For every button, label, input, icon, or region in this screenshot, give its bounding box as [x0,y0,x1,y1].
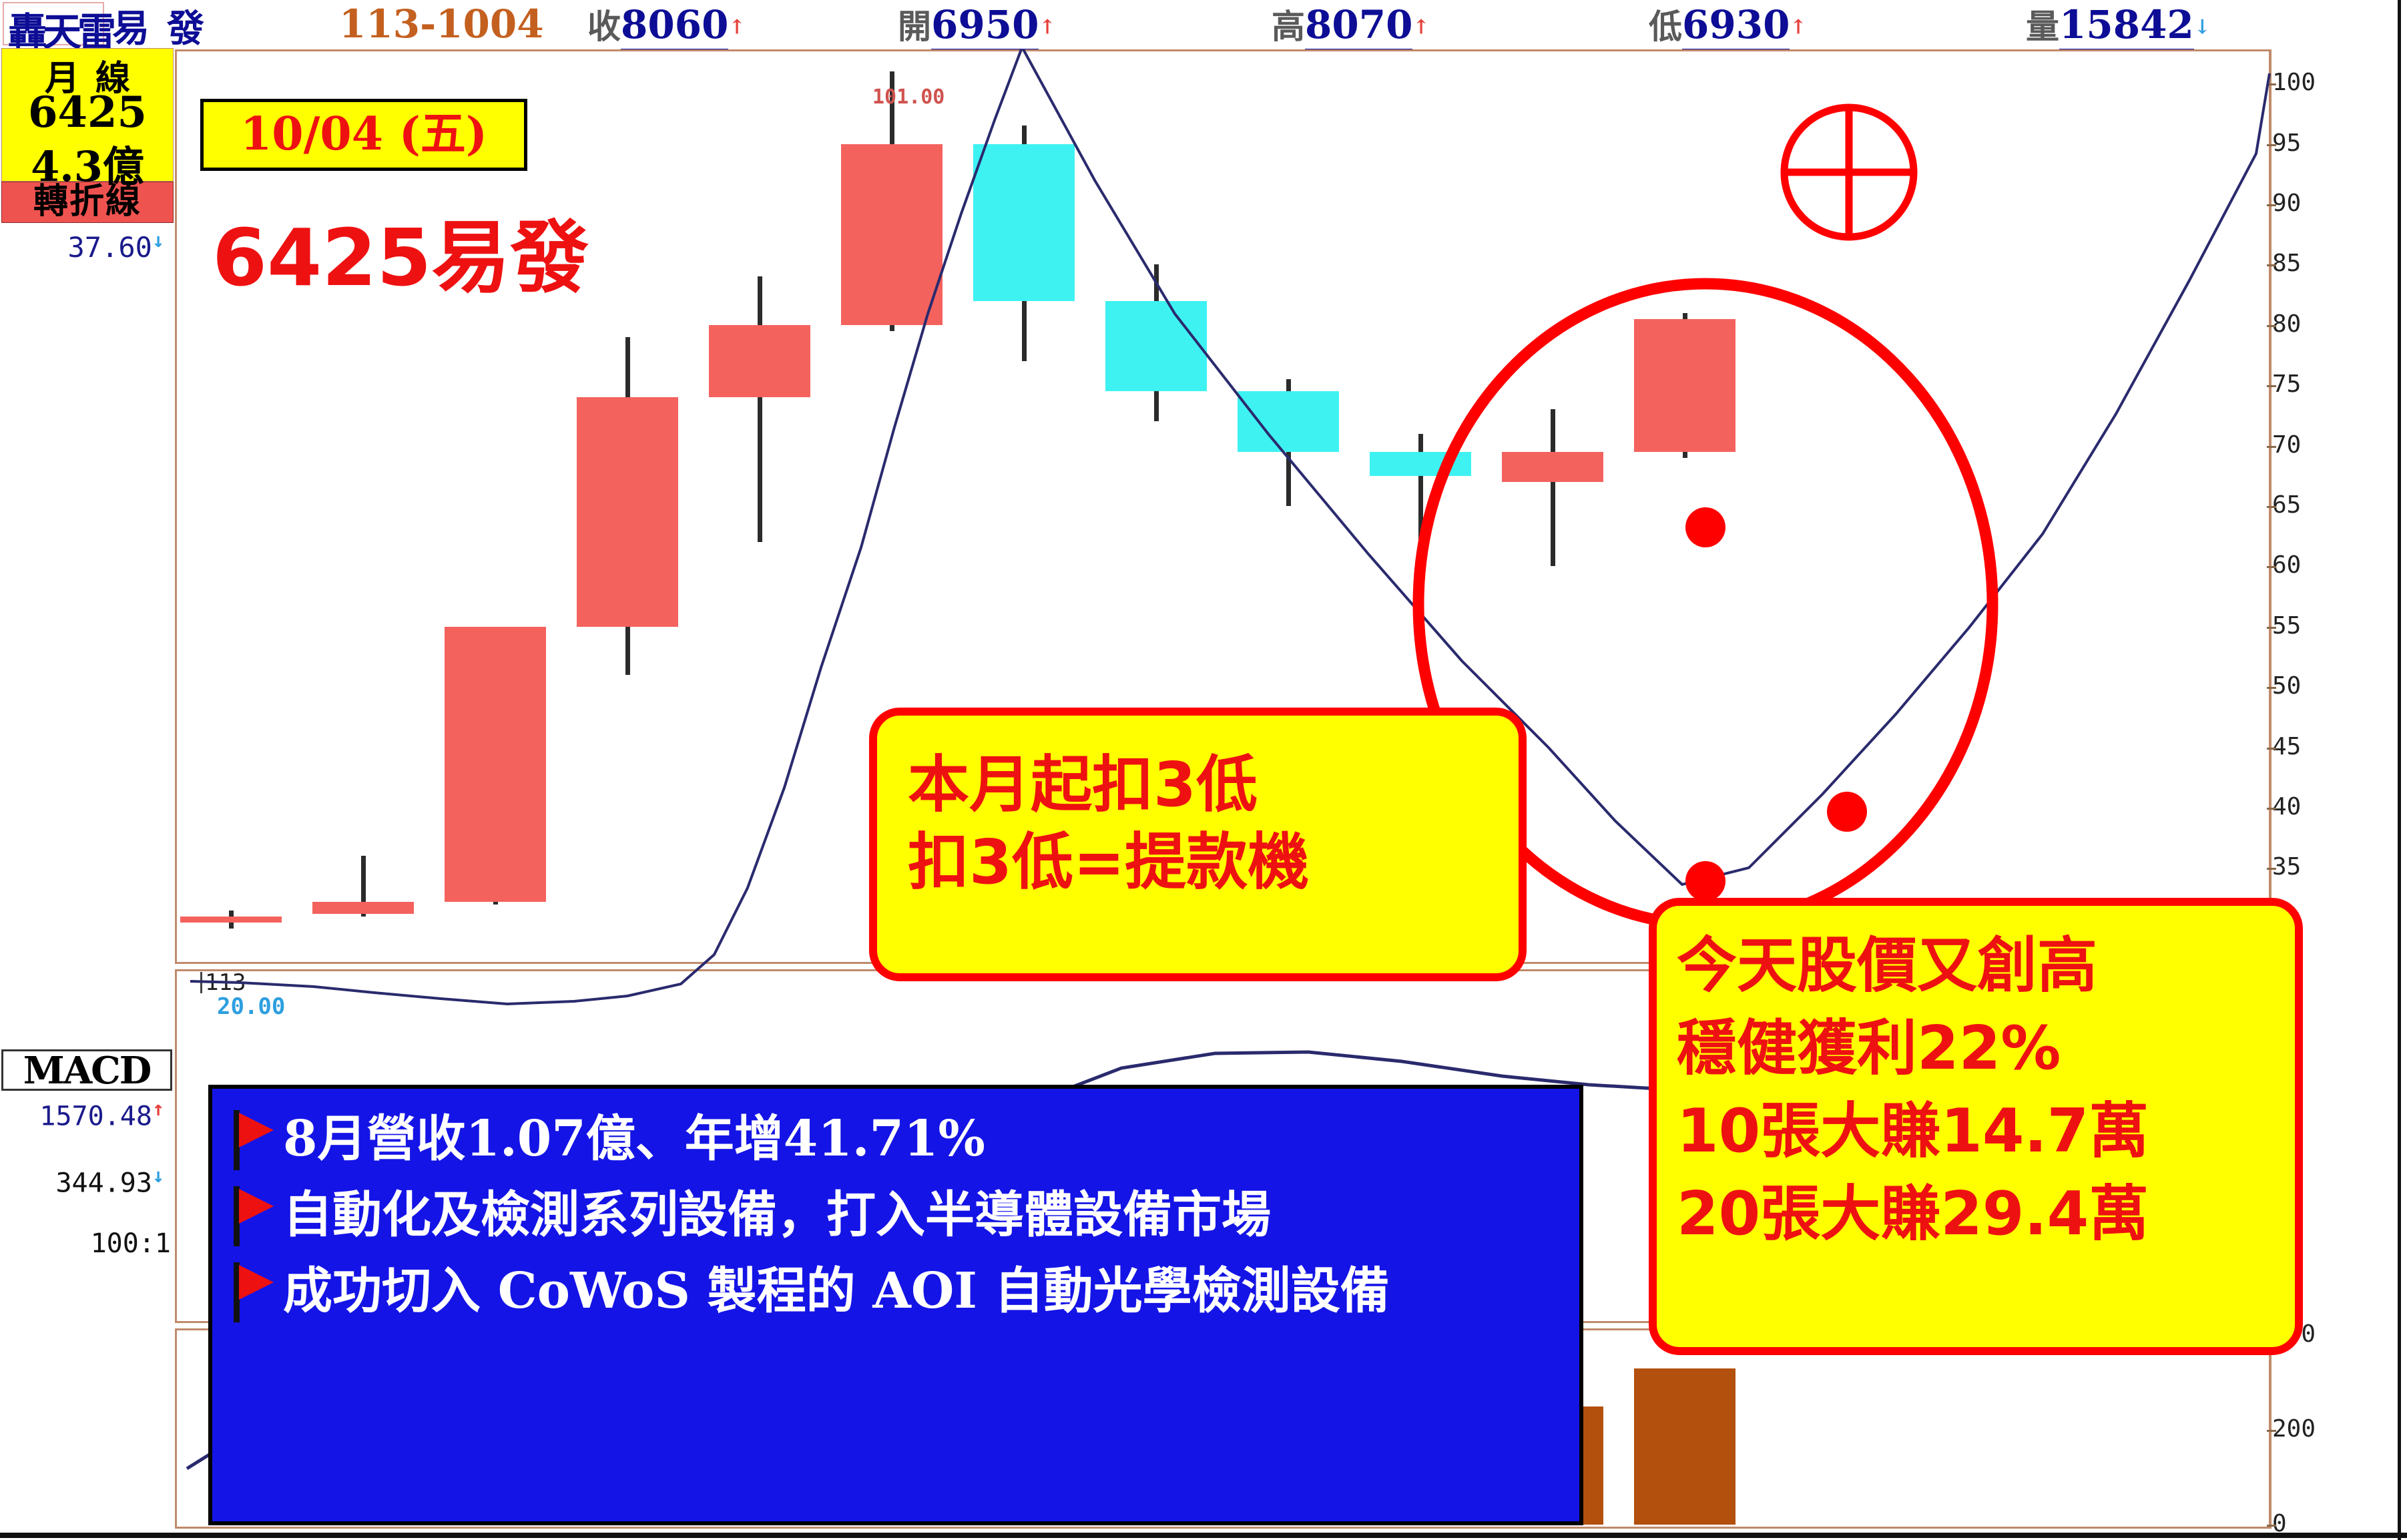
high-arrow-icon: ↑ [1412,16,1429,39]
candlestick-10 [1370,434,1471,603]
candle-body-up [1502,452,1603,482]
macd-value-mid: 344.93 [55,1168,152,1199]
price-axis-tick-95: 95 [2272,130,2301,157]
price-axis-tickmark [2267,83,2276,85]
candlestick-11 [1502,409,1603,566]
low-price-marker: 20.00 [217,993,285,1020]
price-axis-tickmark [2267,808,2276,810]
low-arrow-icon: ↑ [1790,16,1806,39]
close-arrow-icon: ↑ [728,16,745,39]
red-flag-icon [230,1110,276,1170]
price-axis-tickmark [2267,264,2276,266]
price-axis-tickmark [2267,687,2276,689]
macd-mid-arrow-icon: ↓ [152,1164,164,1188]
price-axis-tick-60: 60 [2272,551,2301,579]
low-label: 低 [1649,7,1682,46]
candle-body-up [445,627,546,902]
callout-right: 今天股價又創高 穩健獲利22% 10張大賺14.7萬 20張大賺29.4萬 [1649,898,2303,1355]
price-axis-tickmark [2267,204,2276,206]
macd-value-mid-row: 344.93↓ [1,1158,174,1202]
volume-axis-tickmark [2267,1430,2276,1432]
candlestick-8 [1105,264,1207,421]
macd-scale: 100:1 [1,1225,174,1262]
candlestick-9 [1238,379,1339,506]
price-axis-tickmark [2267,566,2276,568]
price-axis-tick-80: 80 [2272,310,2301,338]
macd-value-top-row: 1570.48↑ [1,1091,174,1135]
ticker-field-high: 高8070↑ [1272,0,1430,48]
price-axis-tick-40: 40 [2272,793,2301,820]
ticker-field-close: 收8060↑ [587,0,746,48]
close-value: 8060 [621,2,728,53]
date-badge: 10/04 (五) [200,99,527,171]
price-axis-tick-45: 45 [2272,733,2301,760]
close-label: 收 [587,7,621,46]
candlestick-1 [180,911,282,929]
stock-code: 6425 [2,87,173,138]
candlestick-3 [445,627,546,905]
macd-value-top: 1570.48 [39,1101,152,1131]
candlestick-4 [577,337,678,675]
open-arrow-icon: ↑ [1039,16,1055,39]
high-value: 8070 [1305,2,1412,53]
candlestick-7 [973,125,1075,361]
candlestick-12 [1634,313,1735,458]
price-axis-tickmark [2267,144,2276,146]
volume-bar-12 [1634,1368,1735,1525]
x-axis-label: 113 [200,969,246,996]
open-label: 開 [898,7,931,46]
news-line-2: 自動化及檢測系列設備，打入半導體設備市場 [283,1186,1271,1244]
turning-line-value-row: 37.60↓ [1,223,174,260]
price-axis-tick-70: 70 [2272,431,2301,459]
macd-title: MACD [1,1049,172,1091]
volume-value: 15842 [2059,2,2194,53]
callout-middle: 本月起扣3低 扣3低=提款機 [869,708,1527,981]
ticker-bar: 轟天雷 易發 113-1004 收8060↑ 開6950↑ 高8070↑ 低69… [0,0,2407,52]
candlestick-2 [312,856,414,916]
price-axis-tick-100: 100 [2272,69,2316,96]
price-axis-tickmark [2267,385,2276,387]
candle-wick [758,276,762,542]
news-line-3: 成功切入 CoWoS 製程的 AOI 自動光學檢測設備 [283,1262,1390,1320]
x-axis-tick-icon [200,972,202,993]
news-line-1-wrap: 8月營收1.07億、年增41.71% [230,1101,1563,1177]
callout-right-line-3: 10張大賺14.7萬 [1677,1090,2295,1173]
low-value: 6930 [1682,2,1790,53]
ticker-date-code: 113-1004 [339,1,544,47]
window-bottom-border [0,1533,2407,1538]
ticker-field-low: 低6930↑ [1649,0,1807,48]
news-line-2-wrap: 自動化及檢測系列設備，打入半導體設備市場 [230,1177,1563,1253]
price-axis-tick-50: 50 [2272,672,2301,700]
candle-body-down [1238,391,1339,451]
turning-line-arrow-icon: ↓ [152,229,164,252]
price-axis-tickmark [2267,506,2276,508]
price-axis-tickmark [2267,325,2276,327]
callout-middle-line-2: 扣3低=提款機 [908,824,1519,901]
candle-body-down [973,144,1075,301]
x-axis-label-text: 113 [205,969,246,996]
callout-right-line-4: 20張大賺29.4萬 [1677,1173,2295,1256]
volume-axis-tick-200: 200 [2272,1415,2316,1443]
candle-body-up [577,397,678,627]
turning-line-value: 37.60 [68,231,152,264]
news-panel: 8月營收1.07億、年增41.71% 自動化及檢測系列設備，打入半導體設備市場 … [208,1085,1583,1525]
open-value: 6950 [931,2,1039,53]
period-info-pane: 月線 6425 4.3億 [1,48,174,182]
candle-body-up [180,917,282,923]
stock-name: 易發 [112,0,222,53]
candle-wick [1551,409,1555,566]
macd-top-arrow-icon: ↑ [152,1097,164,1121]
turnover-amount: 4.3億 [2,133,173,193]
price-axis-tick-55: 55 [2272,612,2301,639]
volume-axis-tickmark [2267,1525,2276,1527]
left-info-column: 月線 6425 4.3億 轉折線 37.60↓ [1,48,174,260]
macd-info-column: MACD 1570.48↑ 344.93↓ 100:1 [1,1049,174,1262]
price-axis-tick-35: 35 [2272,853,2301,880]
callout-right-line-1: 今天股價又創高 [1677,925,2295,1007]
page-title: 6425易發 [212,194,589,308]
candle-body-up [841,144,943,325]
window-right-border [2398,0,2401,1540]
volume-arrow-icon: ↓ [2194,16,2211,39]
candle-body-up [1634,319,1735,452]
price-axis-tickmark [2267,748,2276,750]
price-axis-tick-90: 90 [2272,190,2301,217]
broker-logo-box: 轟天雷 [3,2,104,45]
stock-chart-screen: 轟天雷 易發 113-1004 收8060↑ 開6950↑ 高8070↑ 低69… [0,0,2407,1540]
red-flag-icon [230,1186,276,1246]
high-price-marker: 101.00 [872,85,945,109]
high-label: 高 [1272,7,1305,46]
volume-axis-rail [2269,1328,2271,1529]
candle-body-up [312,902,414,914]
price-axis-tickmark [2267,627,2276,629]
volume-axis-tick-0: 0 [2272,1510,2287,1537]
ticker-field-open: 開6950↑ [898,0,1056,48]
news-line-1: 8月營收1.07億、年增41.71% [283,1110,985,1168]
candle-body-down [1105,301,1207,392]
news-line-3-wrap: 成功切入 CoWoS 製程的 AOI 自動光學檢測設備 [230,1253,1563,1329]
volume-label: 量 [2026,7,2059,46]
callout-right-line-2: 穩健獲利22% [1677,1007,2295,1090]
ticker-field-volume: 量15842↓ [2026,0,2211,48]
candle-body-up [709,325,810,397]
candlestick-6 [841,71,943,331]
candle-body-down [1370,452,1471,476]
red-flag-icon [230,1262,276,1322]
callout-middle-line-1: 本月起扣3低 [908,746,1519,824]
price-axis-tickmark [2267,446,2276,448]
price-axis-tick-85: 85 [2272,250,2301,277]
price-axis-tick-75: 75 [2272,370,2301,398]
price-axis-tick-65: 65 [2272,491,2301,519]
price-axis-tickmark [2267,868,2276,870]
candlestick-5 [709,276,810,542]
